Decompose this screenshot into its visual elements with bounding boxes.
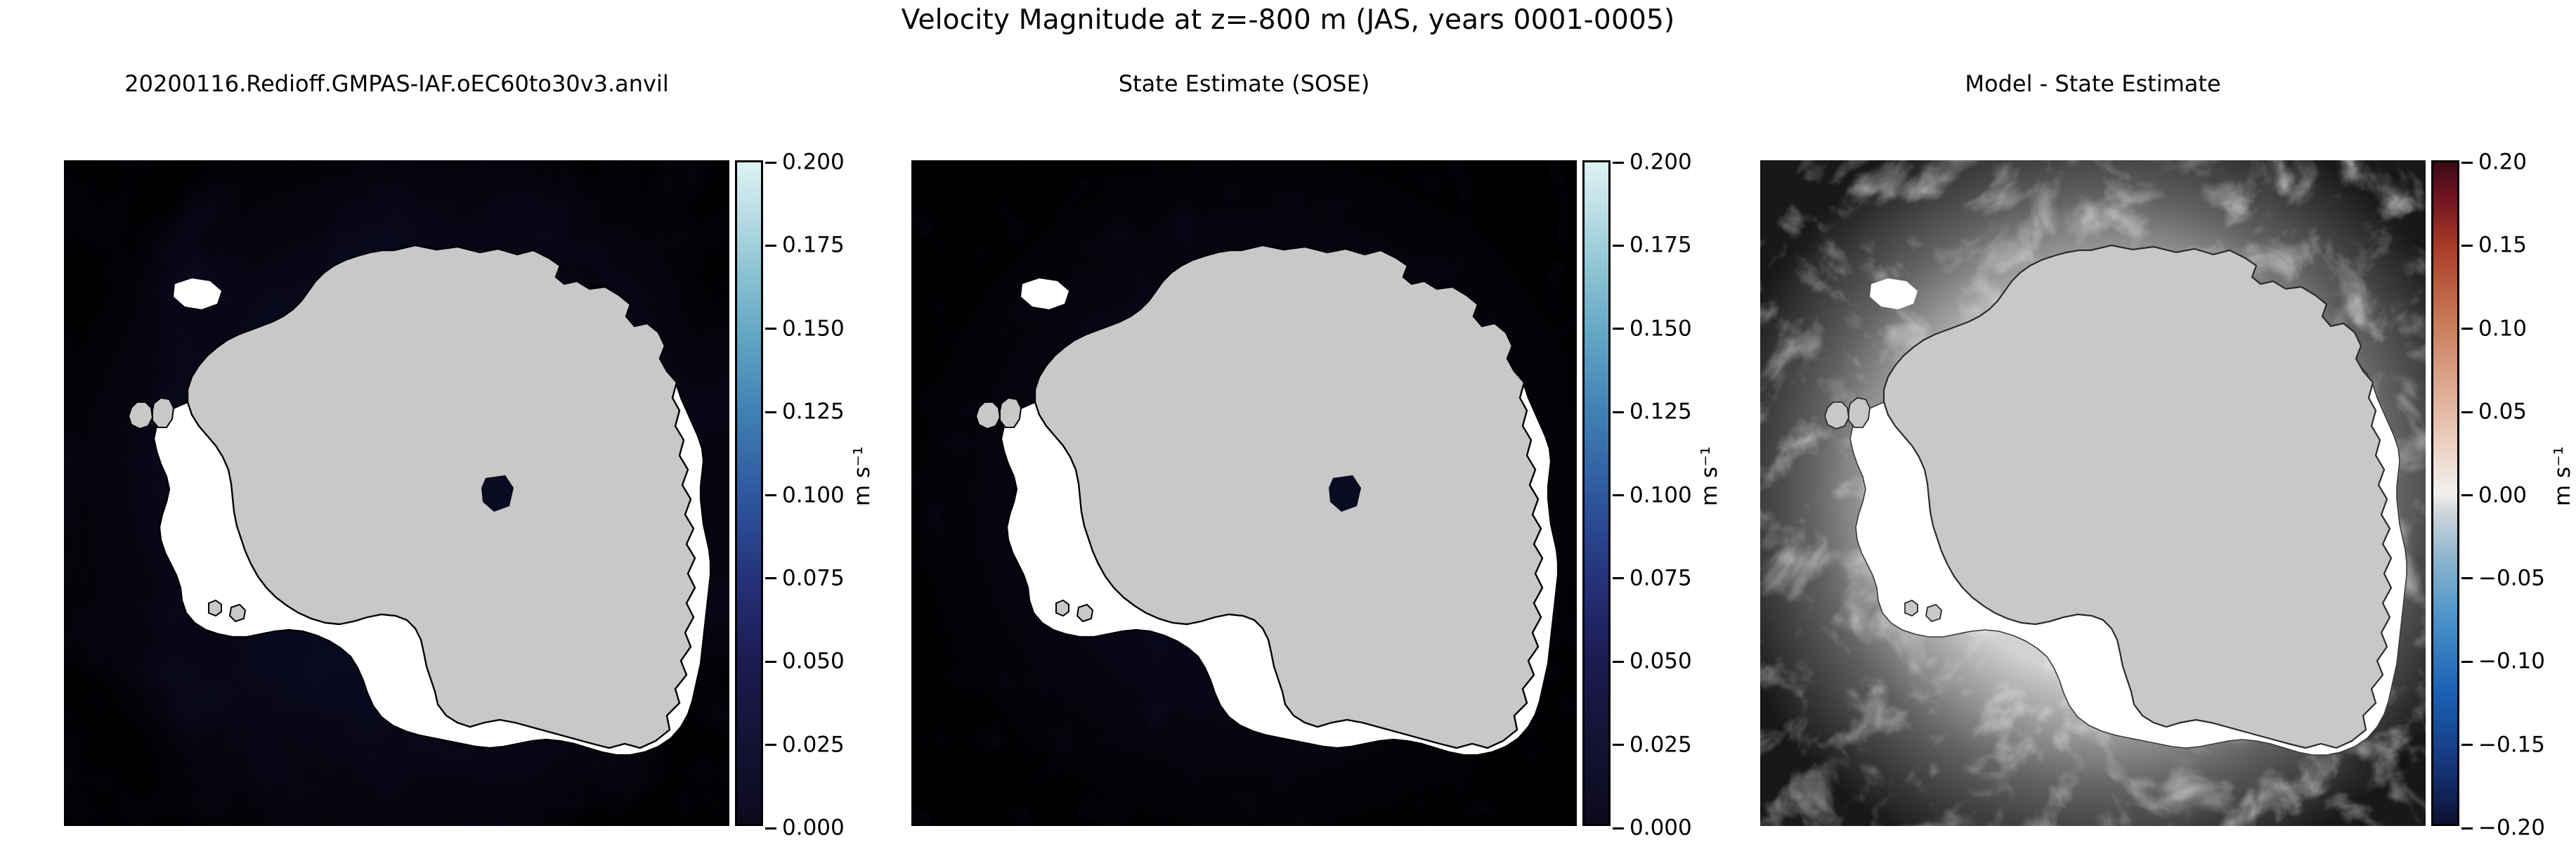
colorbar-ticklabel-state-estimate-1: 0.025 bbox=[1629, 734, 1692, 756]
colorbar-ticklabel-model-5: 0.125 bbox=[782, 401, 845, 423]
colorbar-tick-model-5 bbox=[765, 411, 776, 413]
colorbar-tick-model-3 bbox=[765, 577, 776, 579]
colorbar-ticklabel-difference-6: 0.10 bbox=[2478, 318, 2527, 340]
colorbar-tick-state-estimate-7 bbox=[1613, 245, 1624, 247]
colorbar-ticklabel-difference-3: −0.05 bbox=[2478, 567, 2545, 589]
colorbar-ticklabel-difference-7: 0.15 bbox=[2478, 235, 2527, 257]
colorbar-unit-model: m s⁻¹ bbox=[850, 446, 875, 506]
colorbar-ticklabel-difference-0: −0.20 bbox=[2478, 818, 2545, 839]
colorbar-tick-difference-0 bbox=[2461, 827, 2473, 830]
colorbar-state-estimate[interactable]: 0.0000.0250.0500.0750.1000.1250.1500.175… bbox=[1582, 160, 1611, 826]
colorbar-ticklabel-state-estimate-3: 0.075 bbox=[1629, 567, 1692, 589]
panel-title-state-estimate: State Estimate (SOSE) bbox=[911, 70, 1577, 97]
map-panel-model[interactable] bbox=[64, 160, 729, 826]
colorbar-ticklabel-state-estimate-5: 0.125 bbox=[1629, 401, 1692, 423]
colorbar-tick-model-2 bbox=[765, 661, 776, 663]
colorbar-ticklabel-model-0: 0.000 bbox=[782, 818, 845, 839]
colorbar-tick-state-estimate-4 bbox=[1613, 494, 1624, 496]
colorbar-ticklabel-model-7: 0.175 bbox=[782, 235, 845, 257]
colorbar-unit-difference: m s⁻¹ bbox=[2550, 446, 2575, 506]
colorbar-tick-state-estimate-5 bbox=[1613, 411, 1624, 413]
colorbar-tick-state-estimate-3 bbox=[1613, 577, 1624, 579]
colorbar-tick-model-0 bbox=[765, 827, 776, 830]
colorbar-tick-difference-1 bbox=[2461, 744, 2473, 746]
sose-velocity-field bbox=[911, 160, 1577, 826]
colorbar-difference[interactable]: −0.20−0.15−0.10−0.050.000.050.100.150.20 bbox=[2431, 160, 2459, 826]
colorbar-tick-difference-2 bbox=[2461, 661, 2473, 663]
colorbar-tick-state-estimate-0 bbox=[1613, 827, 1624, 830]
colorbar-tick-difference-5 bbox=[2461, 411, 2473, 413]
colorbar-ticklabel-model-8: 0.200 bbox=[782, 152, 845, 174]
colorbar-tick-model-7 bbox=[765, 245, 776, 247]
colorbar-tick-state-estimate-8 bbox=[1613, 162, 1624, 164]
colorbar-tick-state-estimate-1 bbox=[1613, 744, 1624, 746]
colorbar-tick-state-estimate-2 bbox=[1613, 661, 1624, 663]
colorbar-tick-difference-6 bbox=[2461, 328, 2473, 330]
colorbar-tick-model-4 bbox=[765, 494, 776, 496]
colorbar-tick-model-1 bbox=[765, 744, 776, 746]
colorbar-ticklabel-state-estimate-0: 0.000 bbox=[1629, 818, 1692, 839]
colorbar-ticklabel-model-1: 0.025 bbox=[782, 734, 845, 756]
colorbar-ticklabel-difference-5: 0.05 bbox=[2478, 401, 2527, 423]
colorbar-ticklabel-model-2: 0.050 bbox=[782, 651, 845, 673]
colorbar-model[interactable]: 0.0000.0250.0500.0750.1000.1250.1500.175… bbox=[735, 160, 763, 826]
colorbar-ticklabel-difference-4: 0.00 bbox=[2478, 484, 2527, 506]
colorbar-unit-state-estimate: m s⁻¹ bbox=[1697, 446, 1722, 506]
colorbar-tick-model-6 bbox=[765, 328, 776, 330]
panel-title-model: 20200116.Redioff.GMPAS-IAF.oEC60to30v3.a… bbox=[64, 70, 729, 97]
colorbar-tick-model-8 bbox=[765, 162, 776, 164]
model-velocity-field bbox=[64, 160, 729, 826]
colorbar-ticklabel-model-6: 0.150 bbox=[782, 318, 845, 340]
map-panel-state-estimate[interactable] bbox=[911, 160, 1577, 826]
colorbar-ticklabel-difference-1: −0.15 bbox=[2478, 734, 2545, 756]
map-panel-difference[interactable] bbox=[1760, 160, 2426, 826]
colorbar-ticklabel-model-4: 0.100 bbox=[782, 484, 845, 506]
colorbar-tick-difference-3 bbox=[2461, 577, 2473, 579]
colorbar-tick-difference-4 bbox=[2461, 494, 2473, 496]
colorbar-gradient-state-estimate bbox=[1585, 162, 1608, 824]
colorbar-ticklabel-state-estimate-8: 0.200 bbox=[1629, 152, 1692, 174]
difference-field bbox=[1760, 160, 2426, 826]
colorbar-gradient-model bbox=[737, 162, 761, 824]
colorbar-ticklabel-state-estimate-2: 0.050 bbox=[1629, 651, 1692, 673]
colorbar-tick-difference-7 bbox=[2461, 245, 2473, 247]
colorbar-gradient-difference bbox=[2433, 162, 2457, 824]
colorbar-ticklabel-model-3: 0.075 bbox=[782, 567, 845, 589]
colorbar-ticklabel-difference-8: 0.20 bbox=[2478, 152, 2527, 174]
colorbar-ticklabel-state-estimate-4: 0.100 bbox=[1629, 484, 1692, 506]
colorbar-tick-state-estimate-6 bbox=[1613, 328, 1624, 330]
colorbar-ticklabel-state-estimate-6: 0.150 bbox=[1629, 318, 1692, 340]
colorbar-tick-difference-8 bbox=[2461, 162, 2473, 164]
colorbar-ticklabel-difference-2: −0.10 bbox=[2478, 651, 2545, 673]
figure-suptitle: Velocity Magnitude at z=-800 m (JAS, yea… bbox=[0, 4, 2576, 36]
colorbar-ticklabel-state-estimate-7: 0.175 bbox=[1629, 235, 1692, 257]
panel-title-difference: Model - State Estimate bbox=[1760, 70, 2426, 97]
